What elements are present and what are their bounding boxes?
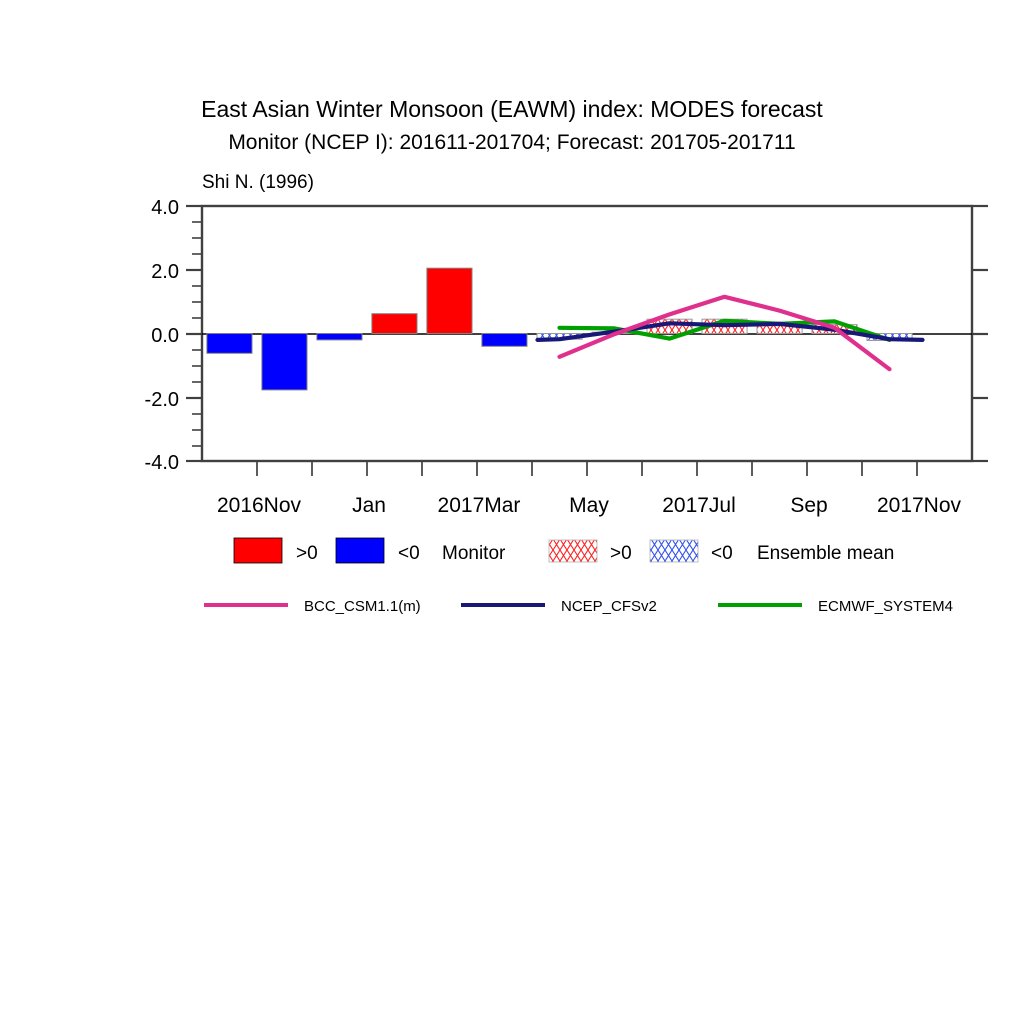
monitor-bar xyxy=(482,334,527,347)
monitor-bar xyxy=(317,334,362,340)
eawm-index-chart: 4.0 2.0 0.0 -2.0 -4.0 2016Nov Jan 2017Ma… xyxy=(0,0,1024,1024)
chart-page: East Asian Winter Monsoon (EAWM) index: … xyxy=(0,0,1024,1024)
ytick-label: 0.0 xyxy=(151,325,179,347)
y-axis-ticks xyxy=(186,206,202,461)
monitor-bars xyxy=(207,268,527,390)
legend-swatch-ens-positive xyxy=(549,540,597,562)
xtick-label: Sep xyxy=(790,494,827,517)
legend-label-negative: <0 xyxy=(398,543,420,564)
xtick-label: 2016Nov xyxy=(217,494,302,517)
legend-label-ncep: NCEP_CFSv2 xyxy=(561,598,657,615)
legend-label-positive: >0 xyxy=(296,543,318,564)
ytick-label: 2.0 xyxy=(151,261,179,283)
xtick-label: 2017Mar xyxy=(438,494,521,517)
legend-label-monitor: Monitor xyxy=(442,543,506,564)
legend-bars-row: >0 <0 Monitor >0 <0 Ensemble mean xyxy=(234,538,894,564)
xtick-label: May xyxy=(569,494,609,517)
legend-swatch-positive xyxy=(234,538,282,563)
legend-label-bcc: BCC_CSM1.1(m) xyxy=(304,598,421,615)
xtick-label: 2017Jul xyxy=(662,494,736,517)
monitor-bar xyxy=(427,268,472,333)
legend-label-ens-positive: >0 xyxy=(610,543,632,564)
legend-label-ensemble-mean: Ensemble mean xyxy=(757,543,894,564)
ytick-label: -4.0 xyxy=(145,452,179,474)
legend-label-ens-negative: <0 xyxy=(711,543,733,564)
legend-lines-row: BCC_CSM1.1(m) NCEP_CFSv2 ECMWF_SYSTEM4 xyxy=(204,598,953,615)
y-axis-labels: 4.0 2.0 0.0 -2.0 -4.0 xyxy=(145,197,179,474)
legend-swatch-ens-negative xyxy=(650,540,698,562)
monitor-bar xyxy=(372,314,417,334)
x-axis-labels: 2016Nov Jan 2017Mar May 2017Jul Sep 2017… xyxy=(217,494,962,517)
ytick-label: 4.0 xyxy=(151,197,179,219)
ytick-label: -2.0 xyxy=(145,389,179,411)
x-axis-ticks xyxy=(257,461,917,476)
legend-swatch-negative xyxy=(336,538,384,563)
monitor-bar xyxy=(262,334,307,390)
y-axis-ticks-right xyxy=(972,206,988,461)
legend-label-ecmwf: ECMWF_SYSTEM4 xyxy=(818,598,953,615)
xtick-label: 2017Nov xyxy=(877,494,962,517)
monitor-bar xyxy=(207,334,252,354)
xtick-label: Jan xyxy=(352,494,386,517)
